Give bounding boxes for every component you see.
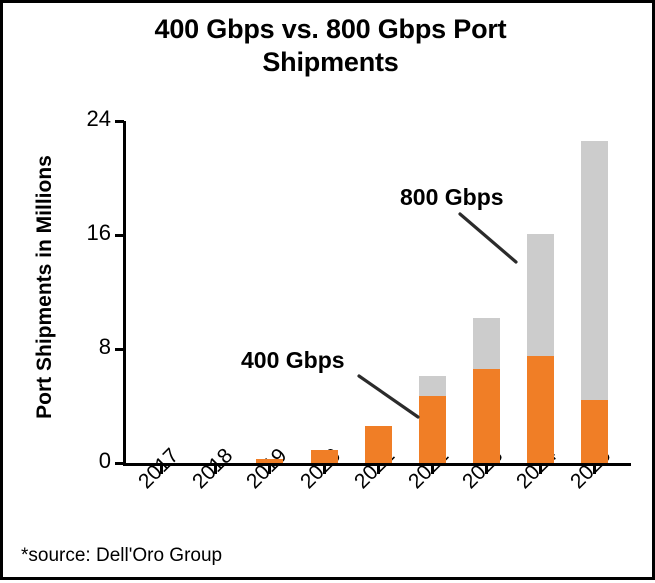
annotation-label-800gbps: 800 Gbps	[400, 184, 504, 211]
bar-2023[interactable]	[473, 318, 500, 463]
y-tick-16	[115, 234, 124, 237]
plot-area: Port Shipments in Millions 081624 201720…	[3, 3, 655, 583]
bar-segment-2023-400-gbps	[473, 369, 500, 463]
bar-segment-2025-800-gbps	[581, 141, 608, 400]
bar-2025[interactable]	[581, 141, 608, 463]
bar-segment-2021-400-gbps	[365, 426, 392, 463]
leader-line-800	[460, 214, 516, 262]
x-tick-label-2019: 2019	[242, 444, 292, 494]
bar-segment-2024-800-gbps	[527, 234, 554, 357]
y-tick-label-0: 0	[51, 448, 111, 474]
bar-segment-2022-800-gbps	[419, 376, 446, 396]
x-tick-label-2017: 2017	[134, 444, 184, 494]
annotation-label-400gbps: 400 Gbps	[241, 347, 345, 374]
leader-line-400	[359, 376, 418, 417]
y-tick-label-8: 8	[51, 334, 111, 360]
y-tick-8	[115, 348, 124, 351]
bar-2020[interactable]	[311, 450, 338, 463]
source-note: *source: Dell'Oro Group	[21, 545, 222, 567]
bar-2024[interactable]	[527, 234, 554, 463]
y-tick-24	[115, 120, 124, 123]
y-axis-labels: 081624	[41, 3, 111, 583]
bar-segment-2019-400-gbps	[256, 459, 283, 463]
x-tick-label-2018: 2018	[188, 444, 238, 494]
bar-segment-2025-400-gbps	[581, 400, 608, 463]
y-tick-0	[115, 462, 124, 465]
bar-segment-2020-400-gbps	[311, 450, 338, 463]
bar-segment-2024-400-gbps	[527, 356, 554, 463]
chart-figure: 400 Gbps vs. 800 Gbps Port Shipments Por…	[0, 0, 655, 580]
bar-segment-2023-800-gbps	[473, 318, 500, 369]
bar-2019[interactable]	[256, 459, 283, 463]
y-tick-label-16: 16	[51, 220, 111, 246]
y-axis-line	[123, 121, 126, 466]
bar-2021[interactable]	[365, 426, 392, 463]
y-tick-label-24: 24	[51, 106, 111, 132]
bar-2022[interactable]	[419, 376, 446, 463]
bar-segment-2022-400-gbps	[419, 396, 446, 463]
